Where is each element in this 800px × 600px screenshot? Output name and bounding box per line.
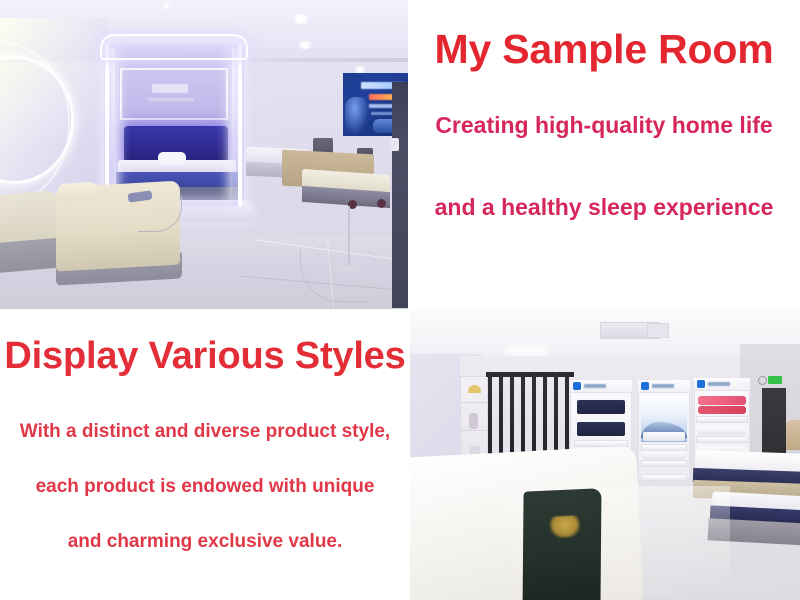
bed-caster	[377, 199, 386, 208]
section-title: Display Various Styles	[0, 331, 410, 381]
ceiling-edge	[224, 58, 408, 62]
ceiling-downlight	[161, 3, 171, 9]
dark-draped-blanket	[523, 488, 602, 600]
ceiling-downlight	[290, 14, 312, 24]
dark-column	[392, 82, 408, 308]
brand-name-text	[708, 382, 730, 386]
mattress-display-box	[577, 422, 625, 436]
brand-logo-icon	[573, 382, 581, 390]
page-title: My Sample Room	[408, 23, 800, 75]
tagline-line-1: Creating high-quality home life	[408, 112, 800, 139]
shelf-decor-item	[468, 385, 481, 393]
exit-sign	[768, 376, 782, 384]
blanket-gold-emblem	[549, 515, 580, 539]
tagline-line-2: and a healthy sleep experience	[408, 194, 800, 221]
poster-figure	[345, 97, 369, 135]
mattress-sample	[643, 451, 685, 460]
mattress-rack-showroom-image	[410, 310, 800, 600]
shelf-decor-item	[469, 413, 478, 429]
mattress-sample	[698, 426, 746, 435]
ceiling-downlight	[296, 41, 314, 49]
brand-logo-icon	[697, 380, 705, 388]
mattress-sample	[643, 432, 685, 441]
showroom-photo-bottom-right	[410, 310, 800, 600]
column-highlight	[390, 138, 399, 151]
brand-logo-icon	[641, 382, 649, 390]
violet-showroom-image	[0, 0, 408, 309]
description-line-1: With a distinct and diverse product styl…	[0, 421, 410, 443]
promotional-banner: My Sample Room Creating high-quality hom…	[0, 0, 800, 600]
display-tray	[696, 416, 748, 423]
wall-fixture-icon	[758, 376, 767, 385]
alcove-hood-light	[100, 34, 248, 60]
text-panel-top-right: My Sample Room Creating high-quality hom…	[408, 0, 800, 309]
display-tray	[641, 474, 687, 481]
brand-name-text	[584, 384, 606, 388]
shelf-line	[461, 430, 487, 431]
bench-side-base	[0, 237, 64, 273]
ceiling-downlight	[353, 66, 367, 73]
ceiling-vent	[647, 323, 669, 338]
bench-pillow	[58, 182, 96, 203]
description-line-3: and charming exclusive value.	[0, 531, 410, 553]
display-tray	[641, 460, 687, 467]
brand-name-text	[652, 384, 674, 388]
description-line-2: each product is endowed with unique	[0, 476, 410, 498]
display-tray	[641, 444, 687, 451]
ceiling-light	[506, 348, 546, 353]
shelf-line	[461, 402, 487, 403]
showroom-photo-top-left	[0, 0, 408, 309]
side-armchair	[786, 420, 800, 450]
mattress-sample-pink	[698, 396, 746, 405]
mattress-sample-red	[698, 406, 746, 414]
text-panel-bottom-left: Display Various Styles With a distinct a…	[0, 309, 410, 600]
display-tray	[696, 436, 748, 443]
mattress-display-box	[577, 400, 625, 414]
